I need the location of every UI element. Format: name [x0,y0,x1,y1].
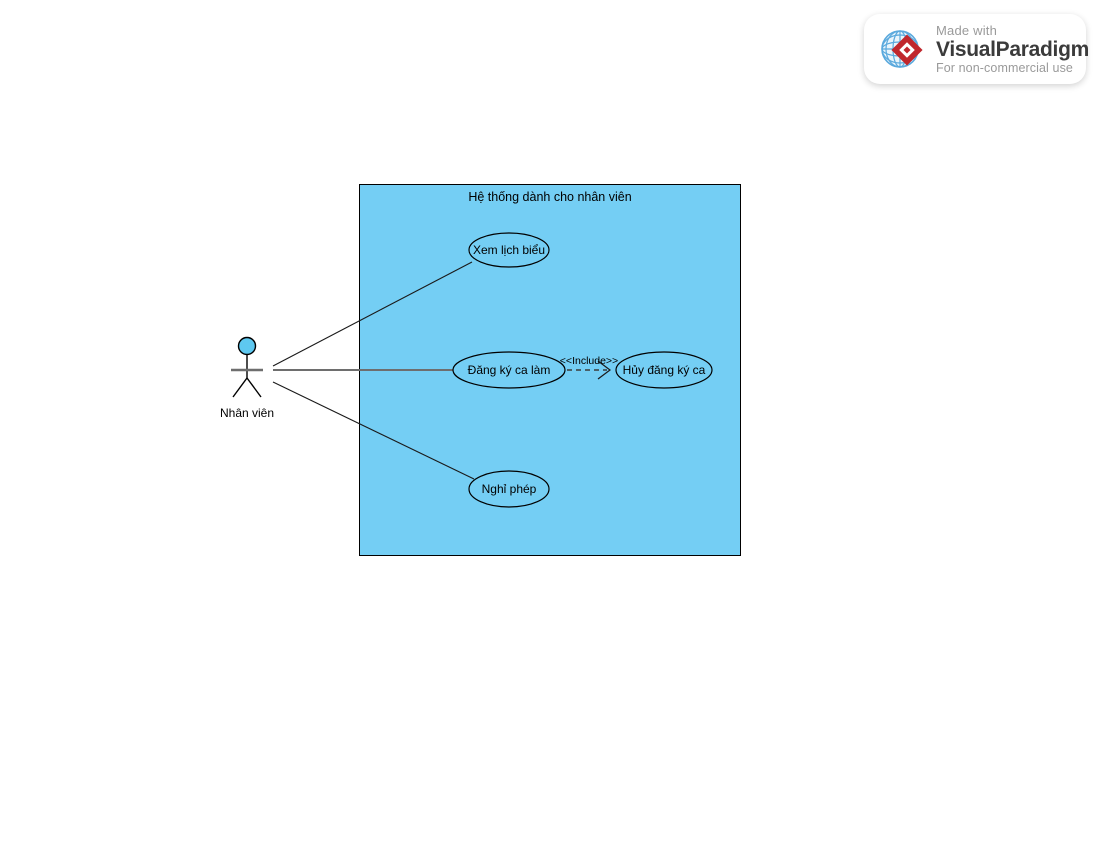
visual-paradigm-logo-icon [876,23,928,75]
visual-paradigm-watermark: Made with VisualParadigm For non-commerc… [864,14,1086,84]
actor-leg-left [233,378,247,397]
use-case-diagram-canvas [0,0,1099,849]
actor-head-icon [239,338,256,355]
watermark-license-text: For non-commercial use [936,62,1089,75]
actor-nhan-vien-figure[interactable] [231,338,263,398]
watermark-brand-text: VisualParadigm [936,39,1089,60]
watermark-made-with-text: Made with [936,24,1089,37]
actor-leg-right [247,378,261,397]
